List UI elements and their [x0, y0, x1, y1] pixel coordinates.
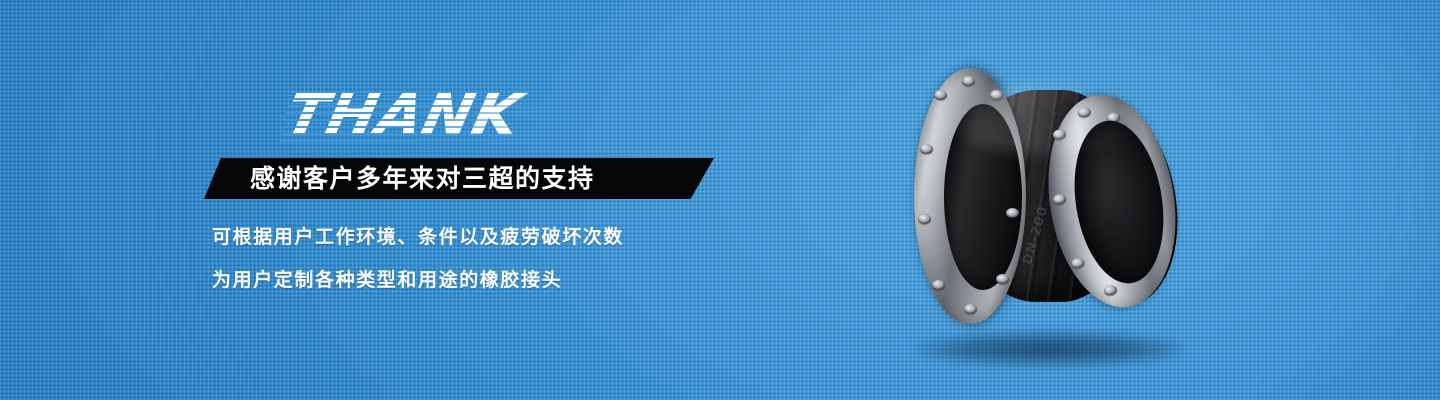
description-block: 可根据用户工作环境、条件以及疲劳破坏次数 为用户定制各种类型和用途的橡胶接头: [212, 216, 756, 302]
bolt-hole: [990, 90, 1003, 100]
steel-flange-left: [914, 68, 1026, 324]
headline-text: 感谢客户多年来对三超的支持: [250, 158, 595, 199]
product-shadow: [914, 332, 1186, 366]
bolt-hole: [1077, 106, 1091, 118]
bolt-hole: [1052, 128, 1066, 140]
bolt-hole: [1006, 208, 1019, 218]
promo-banner: THANK 感谢客户多年来对三超的支持 可根据用户工作环境、条件以及疲劳破坏次数…: [0, 0, 1440, 400]
description-line-1: 可根据用户工作环境、条件以及疲劳破坏次数: [212, 216, 756, 259]
bolt-hole: [1052, 193, 1066, 205]
bolt-hole: [962, 76, 975, 86]
flange-left-rubber-face: [944, 104, 1022, 290]
bolt-hole: [996, 274, 1009, 284]
bolt-hole: [1071, 257, 1085, 269]
bolt-hole: [1103, 284, 1117, 296]
headline-bar: 感谢客户多年来对三超的支持: [204, 158, 714, 199]
wordmark-container: THANK: [280, 86, 756, 148]
bolt-hole: [964, 304, 977, 314]
bolt-hole: [934, 90, 947, 100]
product-image-rubber-expansion-joint: DN-200: [900, 44, 1200, 364]
thank-wordmark: THANK: [280, 86, 526, 146]
bolt-hole: [918, 214, 931, 224]
description-line-2: 为用户定制各种类型和用途的橡胶接头: [212, 259, 756, 302]
banner-copy: THANK 感谢客户多年来对三超的支持 可根据用户工作环境、条件以及疲劳破坏次数…: [196, 86, 756, 302]
bolt-hole: [932, 280, 945, 290]
bolt-hole: [920, 144, 933, 154]
